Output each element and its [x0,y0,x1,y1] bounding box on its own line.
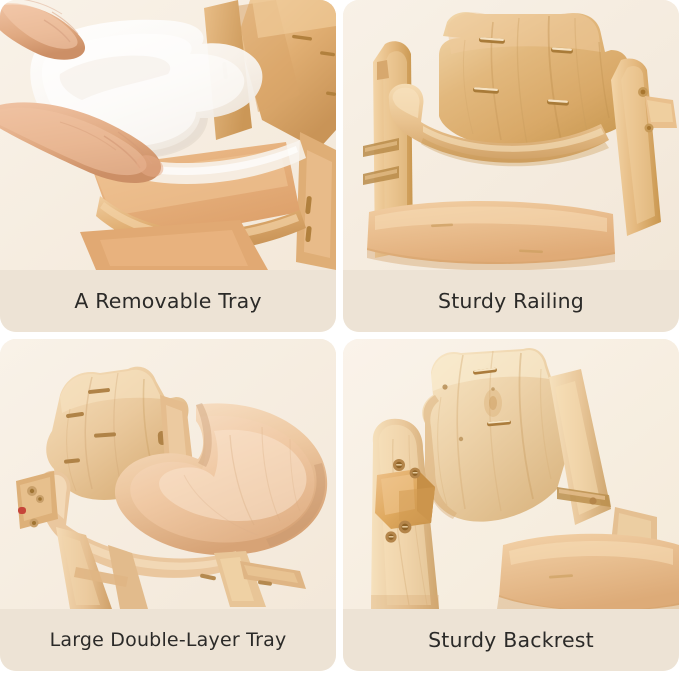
release-button [18,507,26,514]
feature-panel-removable-tray[interactable]: A Removable Tray [0,0,336,332]
photo-sturdy-railing [343,0,679,270]
caption-label-sturdy-backrest: Sturdy Backrest [428,628,594,652]
caption-label-removable-tray: A Removable Tray [74,289,261,313]
illustration-sturdy-backrest [343,339,679,609]
feature-panel-sturdy-backrest[interactable]: Sturdy Backrest [343,339,679,671]
caption-label-sturdy-railing: Sturdy Railing [438,289,584,313]
photo-removable-tray [0,0,336,270]
photo-double-layer-tray [0,339,336,609]
illustration-sturdy-railing [343,0,679,270]
illustration-double-layer-tray [0,339,336,609]
feature-panel-sturdy-railing[interactable]: Sturdy Railing [343,0,679,332]
caption-bar-removable-tray: A Removable Tray [0,270,336,332]
photo-sturdy-backrest [343,339,679,609]
caption-bar-sturdy-railing: Sturdy Railing [343,270,679,332]
feature-panel-double-layer-tray[interactable]: Large Double-Layer Tray [0,339,336,671]
caption-label-double-layer-tray: Large Double-Layer Tray [50,629,287,651]
caption-bar-sturdy-backrest: Sturdy Backrest [343,609,679,671]
feature-grid: A Removable Tray [0,0,679,679]
caption-bar-double-layer-tray: Large Double-Layer Tray [0,609,336,671]
illustration-removable-tray [0,0,336,270]
